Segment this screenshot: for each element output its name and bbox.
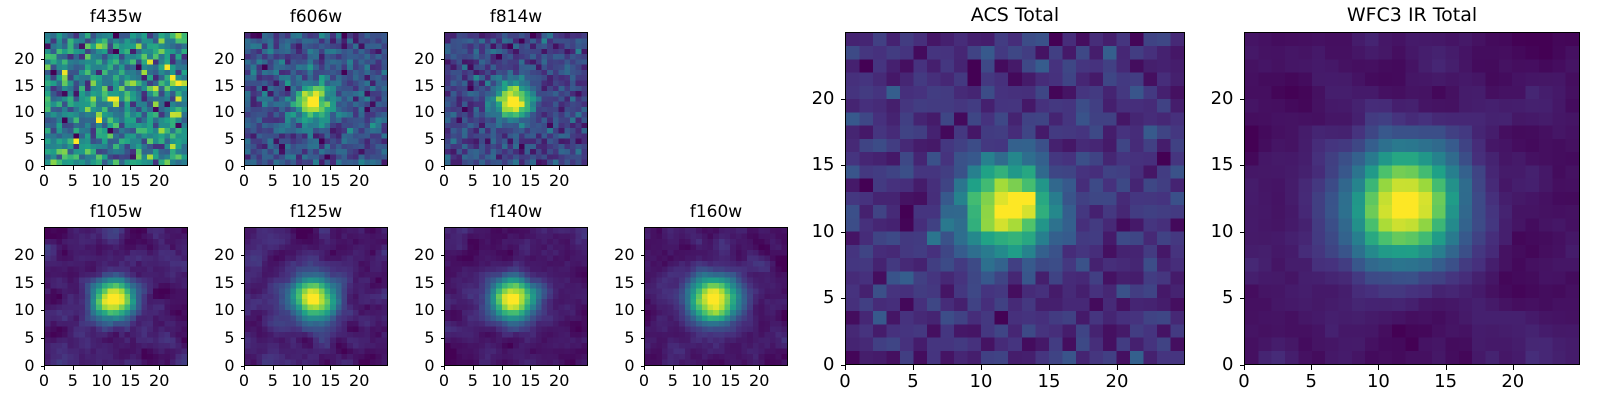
xtick-label-wfc3-ir-total-4: 20 <box>1501 373 1524 391</box>
ytick-label-wfc3-ir-total-1: 5 <box>1194 289 1234 307</box>
heatmap-axes-wfc3-ir-total <box>1244 32 1580 365</box>
ytick-label-wfc3-ir-total-2: 10 <box>1194 223 1234 241</box>
ytick-label-wfc3-ir-total-3: 15 <box>1194 156 1234 174</box>
xtick-mark-wfc3-ir-total-2 <box>1378 365 1379 370</box>
ytick-mark-wfc3-ir-total-4 <box>1240 99 1245 100</box>
panel-wfc3-ir-total: WFC3 IR Total0510152005101520 <box>0 0 1600 400</box>
xtick-label-wfc3-ir-total-0: 0 <box>1238 373 1249 391</box>
ytick-mark-wfc3-ir-total-0 <box>1240 365 1245 366</box>
xtick-mark-wfc3-ir-total-4 <box>1513 365 1514 370</box>
xtick-label-wfc3-ir-total-2: 10 <box>1367 373 1390 391</box>
ytick-mark-wfc3-ir-total-2 <box>1240 232 1245 233</box>
xtick-mark-wfc3-ir-total-3 <box>1446 365 1447 370</box>
xtick-mark-wfc3-ir-total-1 <box>1311 365 1312 370</box>
figure-canvas: f435w0510152005101520f606w05101520051015… <box>0 0 1600 400</box>
ytick-label-wfc3-ir-total-4: 20 <box>1194 90 1234 108</box>
xtick-label-wfc3-ir-total-3: 15 <box>1434 373 1457 391</box>
panel-title-wfc3-ir-total: WFC3 IR Total <box>1244 6 1580 25</box>
ytick-label-wfc3-ir-total-0: 0 <box>1194 356 1234 374</box>
xtick-label-wfc3-ir-total-1: 5 <box>1305 373 1316 391</box>
heatmap-image-wfc3-ir-total <box>1245 33 1579 364</box>
xtick-mark-wfc3-ir-total-0 <box>1244 365 1245 370</box>
ytick-mark-wfc3-ir-total-3 <box>1240 165 1245 166</box>
ytick-mark-wfc3-ir-total-1 <box>1240 298 1245 299</box>
